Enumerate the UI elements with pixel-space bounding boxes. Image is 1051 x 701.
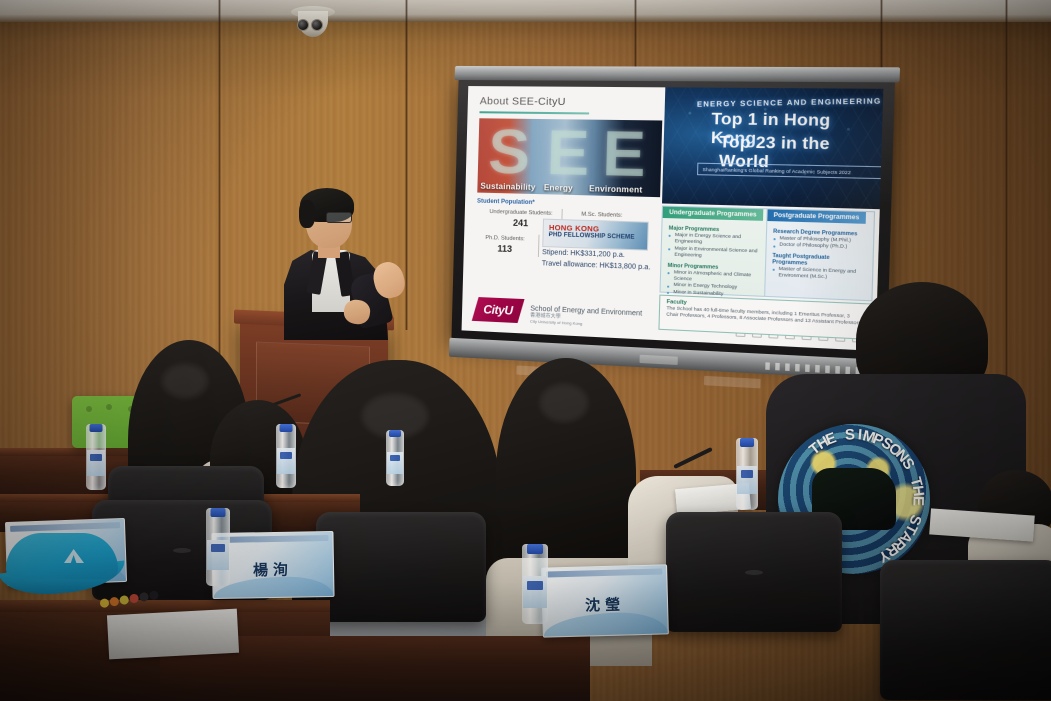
chair-center[interactable]	[316, 512, 486, 622]
presenter	[282, 188, 400, 338]
stat-phd: Ph.D. Students: 113	[476, 235, 535, 255]
postgraduate-header: Postgraduate Programmes	[767, 209, 866, 223]
placard-org-line	[546, 568, 662, 577]
see-letter-e1: E	[546, 123, 590, 185]
slide-title: About SEE-CityU	[480, 95, 566, 108]
see-banner-image: S E E Sustainability Energy Environment	[477, 118, 662, 197]
ug-major-item: Major in Environmental Science and Engin…	[668, 246, 760, 263]
simpsons-letter: S	[845, 426, 856, 444]
cityu-logo: CityU	[472, 297, 525, 324]
water-bottle	[276, 424, 296, 488]
water-bottle	[736, 438, 758, 510]
see-caption-sustainability: Sustainability	[480, 182, 535, 192]
hk-phd-fellowship-banner: HONG KONG PHD FELLOWSHIP SCHEME	[542, 219, 649, 251]
ceiling-camera-icon	[291, 6, 335, 40]
student-population-heading: Student Population*	[477, 199, 535, 207]
name-placard-3: 沈瑩	[541, 564, 669, 637]
title-underline	[479, 111, 589, 114]
water-bottle	[522, 544, 548, 624]
fellowship-travel: Travel allowance: HK$13,800 p.a.	[542, 260, 651, 271]
fellowship-line2: PHD FELLOWSHIP SCHEME	[549, 232, 635, 241]
water-bottle	[86, 424, 106, 490]
see-caption-environment: Environment	[589, 184, 643, 195]
stat-label: M.Sc. Students:	[581, 212, 622, 219]
chair-right[interactable]	[666, 512, 842, 632]
undergraduate-header: Undergraduate Programmes	[663, 207, 764, 221]
presentation-room-photo: About SEE-CityU S E E Sustainability Ene…	[0, 0, 1051, 701]
school-name-cn: 香港城市大學 City University of Hong Kong	[530, 312, 583, 327]
placard-org-line	[217, 535, 329, 543]
fellowship-stipend: Stipend: HK$331,200 p.a.	[542, 249, 625, 259]
pen-icon	[673, 447, 713, 469]
glasses-icon	[326, 212, 352, 223]
hero-panel: ENERGY SCIENCE AND ENGINEERING Top 1 in …	[662, 87, 883, 209]
stat-value: 113	[476, 243, 535, 255]
chair-far-right[interactable]	[880, 560, 1051, 700]
stat-label: Undergraduate Students:	[489, 209, 552, 217]
cityu-logo-text: CityU	[483, 302, 513, 317]
display-top-trim	[454, 66, 900, 82]
see-letter-s: S	[488, 122, 531, 183]
water-bottle	[386, 430, 404, 486]
simpsons-letter: E	[909, 495, 926, 505]
see-letter-e2: E	[602, 124, 647, 187]
ceiling	[0, 0, 1051, 22]
see-caption-energy: Energy	[544, 183, 573, 193]
undergraduate-column: Undergraduate Programmes Major Programme…	[661, 207, 767, 296]
water-bottle	[206, 508, 230, 586]
stat-label: Ph.D. Students:	[485, 235, 525, 242]
handout-paper	[107, 609, 239, 660]
pg-taught-item: Master of Science in Energy and Environm…	[772, 266, 867, 283]
wall-seam	[405, 0, 408, 330]
stat-divider	[538, 235, 540, 257]
blue-baseball-cap	[0, 527, 124, 593]
